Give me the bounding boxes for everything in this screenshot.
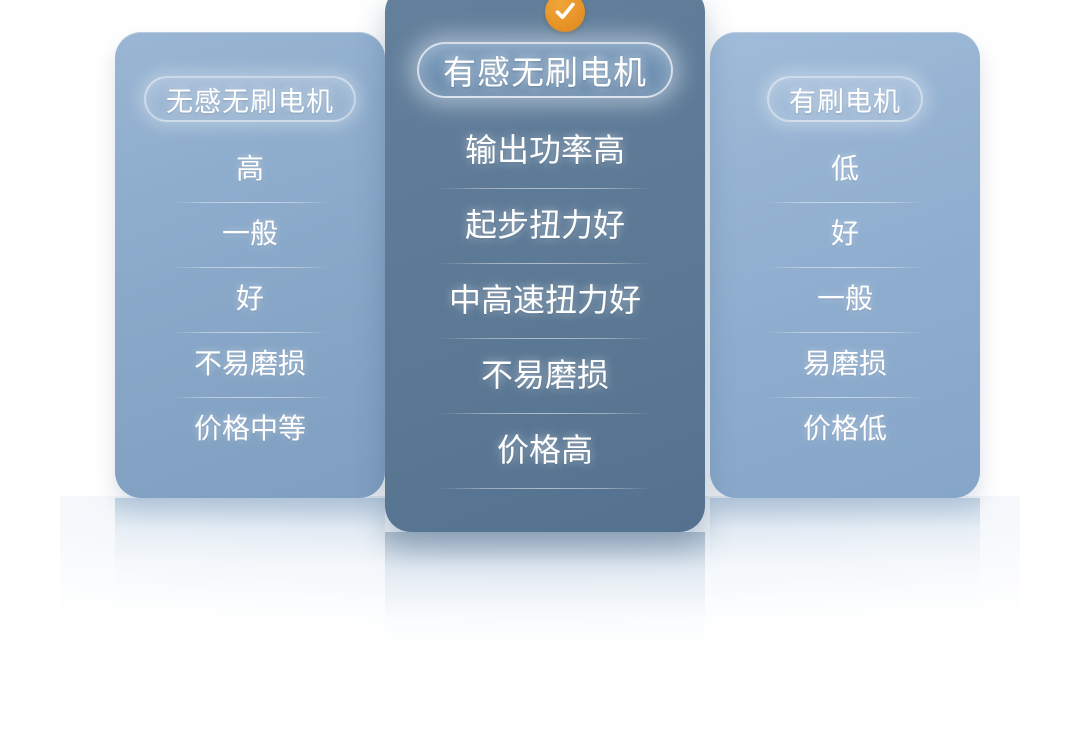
card-reflection-right <box>710 498 980 618</box>
card-row: 好 <box>759 203 931 268</box>
card-row: 好 <box>164 268 336 333</box>
card-row: 高 <box>164 138 336 203</box>
card-rows-sensored-brushless: 输出功率高 起步扭力好 中高速扭力好 不易磨损 价格高 <box>385 114 705 489</box>
motor-card-sensorless-brushless[interactable]: 无感无刷电机 高 一般 好 不易磨损 价格中等 <box>115 32 385 498</box>
card-row: 起步扭力好 <box>429 189 661 264</box>
card-row: 价格中等 <box>164 398 336 463</box>
card-reflection-center <box>385 532 705 672</box>
card-rows-sensorless-brushless: 高 一般 好 不易磨损 价格中等 <box>115 138 385 463</box>
card-row: 一般 <box>759 268 931 333</box>
card-row: 低 <box>759 138 931 203</box>
motor-card-brushed[interactable]: 有刷电机 低 好 一般 易磨损 价格低 <box>710 32 980 498</box>
card-title-brushed: 有刷电机 <box>767 76 923 122</box>
card-row: 输出功率高 <box>429 114 661 189</box>
card-row: 一般 <box>164 203 336 268</box>
card-row: 易磨损 <box>759 333 931 398</box>
card-title-sensorless-brushless: 无感无刷电机 <box>144 76 356 122</box>
card-rows-brushed: 低 好 一般 易磨损 价格低 <box>710 138 980 463</box>
card-row: 价格低 <box>759 398 931 463</box>
card-row: 不易磨损 <box>429 339 661 414</box>
card-row: 价格高 <box>429 414 661 489</box>
motor-card-sensored-brushless-selected[interactable]: 有感无刷电机 输出功率高 起步扭力好 中高速扭力好 不易磨损 价格高 <box>385 0 705 532</box>
card-title-sensored-brushless: 有感无刷电机 <box>417 42 673 98</box>
card-reflection-left <box>115 498 385 618</box>
card-row: 中高速扭力好 <box>429 264 661 339</box>
comparison-stage: 无感无刷电机 高 一般 好 不易磨损 价格中等 有刷电机 低 好 一般 易磨损 … <box>0 0 1080 756</box>
card-row: 不易磨损 <box>164 333 336 398</box>
